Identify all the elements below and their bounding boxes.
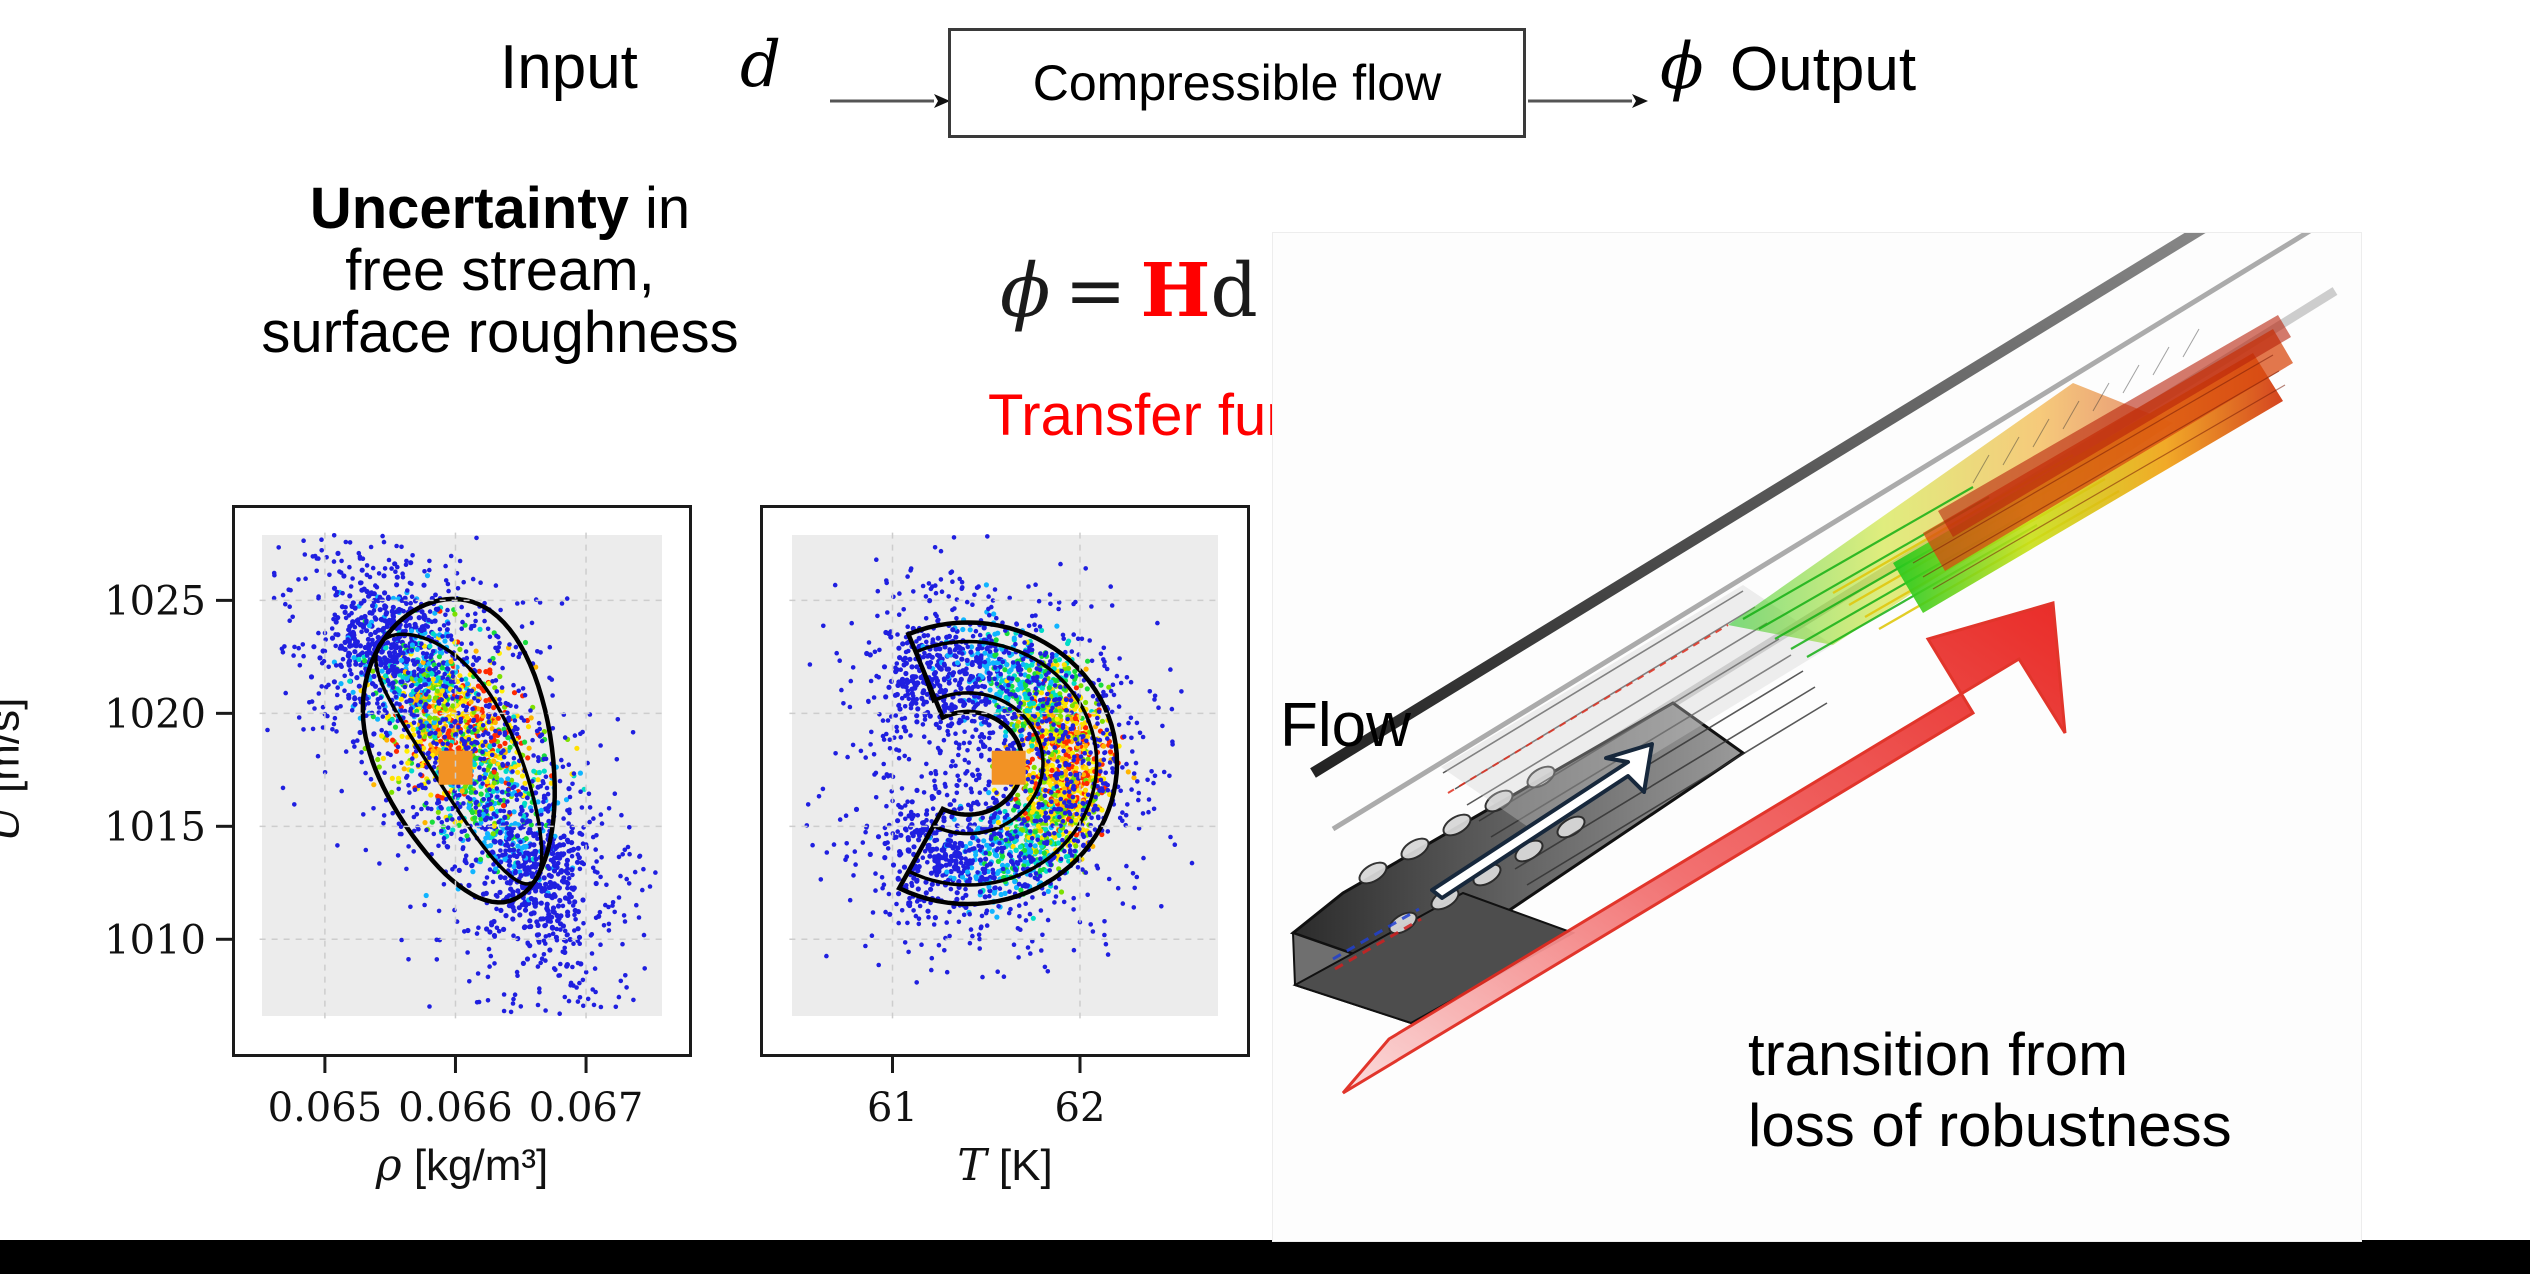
description-line-3: surface roughness	[120, 302, 880, 364]
density-scatter-canvas	[235, 508, 689, 1054]
equation-phi: ϕ	[1000, 248, 1050, 334]
in-word: in	[629, 176, 690, 241]
transfer-equation: ϕ=Hd	[1000, 248, 1258, 334]
input-symbol: d	[740, 28, 781, 102]
temperature-scatter-canvas	[763, 508, 1247, 1054]
caption-line-2: loss of robustness	[1748, 1091, 2232, 1162]
equation-equals: =	[1050, 248, 1140, 334]
x-axis-label-density: ρ [kg/m³]	[376, 1140, 549, 1191]
arrow-right-icon	[830, 94, 950, 108]
output-label: Output	[1730, 34, 1916, 105]
scatter-plot-temperature	[760, 505, 1250, 1057]
input-label: Input	[500, 32, 638, 103]
figure-canvas: Input d Compressible flow ϕ Output Uncer…	[0, 0, 2530, 1274]
y-axis-label: U [m/s]	[0, 698, 30, 843]
arrow-right-icon	[1528, 94, 1648, 108]
description-line-2: free stream,	[120, 240, 880, 302]
compressible-flow-box: Compressible flow	[948, 28, 1526, 138]
scatter-plot-density	[232, 505, 692, 1057]
caption-line-1: transition from	[1748, 1020, 2232, 1091]
compressible-flow-label: Compressible flow	[951, 31, 1523, 135]
equation-matrix-H: H	[1140, 248, 1210, 334]
output-symbol: ϕ	[1660, 30, 1704, 104]
description-line-1: Uncertainty in	[120, 178, 880, 240]
uncertainty-word: Uncertainty	[310, 176, 629, 241]
flow-label: Flow	[1280, 690, 1411, 761]
transition-caption: transition from loss of robustness	[1748, 1020, 2232, 1162]
x-axis-label-temperature: T [K]	[957, 1140, 1052, 1191]
flow-arrow-icon	[1430, 740, 1680, 900]
uncertainty-description: Uncertainty in free stream, surface roug…	[120, 178, 880, 364]
equation-d: d	[1210, 248, 1257, 334]
